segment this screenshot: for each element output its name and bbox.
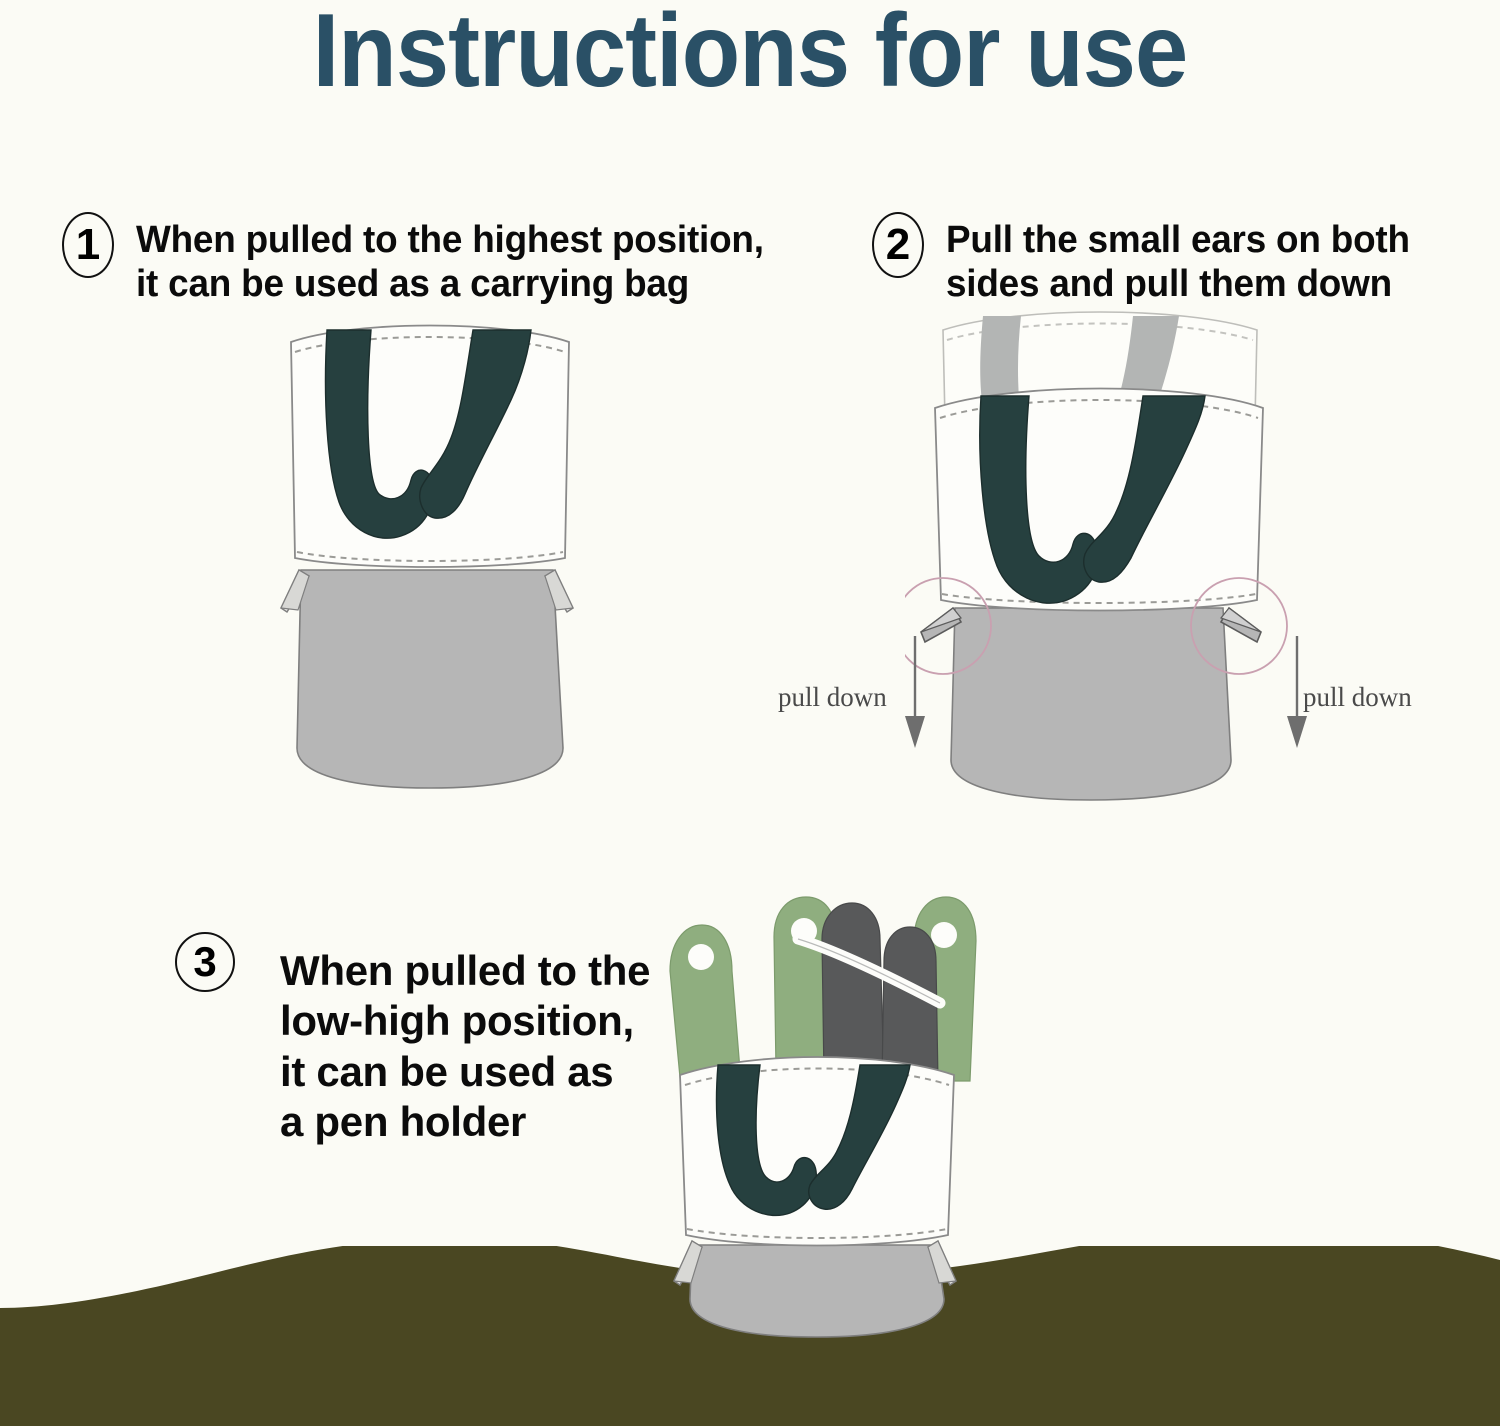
- instruction-sheet: Instructions for use 1 When pulled to th…: [0, 0, 1500, 1426]
- step-3-header: 3 When pulled to the low-high position, …: [175, 932, 650, 1148]
- bag-body: [690, 1245, 944, 1337]
- circled-number-1-icon: 1: [62, 212, 114, 278]
- down-arrow-left-icon: [895, 636, 935, 756]
- bag-body: [951, 608, 1231, 800]
- page-title: Instructions for use: [60, 0, 1440, 111]
- bag-body: [297, 570, 563, 788]
- step-1-header: 1 When pulled to the highest position, i…: [62, 212, 783, 306]
- step-1-text: When pulled to the highest position, it …: [136, 218, 764, 306]
- step-2-text: Pull the small ears on both sides and pu…: [946, 218, 1410, 306]
- badge-number: 1: [76, 223, 100, 267]
- illustration-step-1-carrying-bag: [265, 318, 595, 808]
- step-2-header: 2 Pull the small ears on both sides and …: [872, 212, 1424, 306]
- badge-number: 3: [193, 941, 216, 983]
- step-3-text: When pulled to the low-high position, it…: [280, 946, 650, 1148]
- circled-number-2-icon: 2: [872, 212, 924, 278]
- pull-down-label-left: pull down: [778, 682, 887, 713]
- circled-number-3-icon: 3: [175, 932, 235, 992]
- illustration-step-3-pen-holder: [648, 895, 988, 1355]
- badge-number: 2: [886, 223, 910, 267]
- illustration-step-2-pull-ears: [905, 308, 1295, 808]
- tool-scissors-right: [882, 927, 938, 1081]
- tool-scissors-left: [822, 903, 884, 1079]
- pull-down-label-right: pull down: [1303, 682, 1412, 713]
